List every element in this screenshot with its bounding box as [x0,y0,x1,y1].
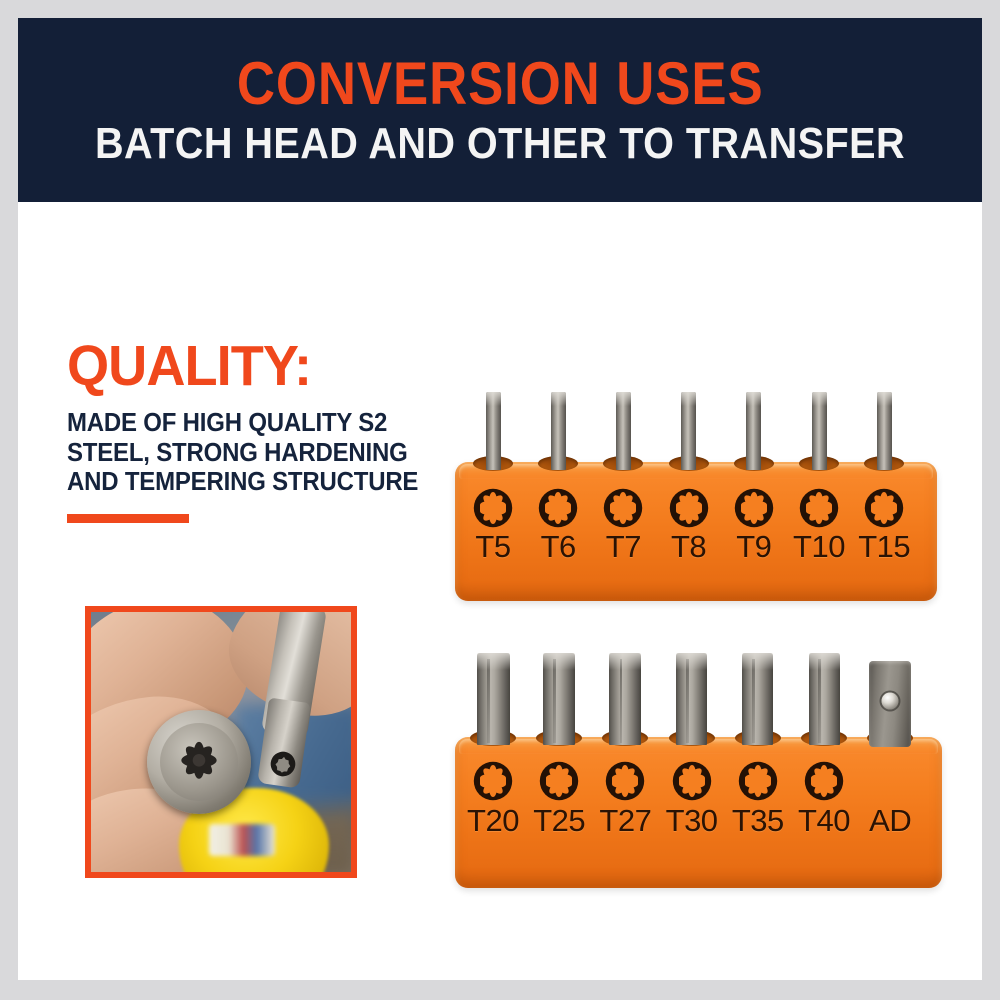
torx-bit-t30[interactable] [676,653,708,745]
torx-bit-t27[interactable] [609,653,641,745]
torx-star-icon [539,761,579,801]
infographic-page: CONVERSION USES BATCH HEAD AND OTHER TO … [18,18,982,980]
bit-size-label: T20 [467,803,519,839]
detent-ball-icon [882,692,899,709]
quality-description: MADE OF HIGH QUALITY S2 STEEL, STRONG HA… [67,409,424,498]
quality-line-3: AND TEMPERING STRUCTURE [67,468,424,498]
torx-bit-t20[interactable] [477,653,510,745]
bit-holder-top: T5 T6 T7 T8 T9 T10 T15 [455,386,937,601]
torx-star-icon [669,488,709,528]
bit-size-label: T9 [736,529,771,565]
torx-bit-t35[interactable] [742,653,773,745]
bit-holder-bottom: T20 T25 T27 T30 T35 T40AD [455,653,942,888]
bit-size-label: T35 [732,803,784,839]
bit-size-label: T7 [606,529,641,565]
torx-bit-t15[interactable] [877,392,892,470]
bit-size-label: T8 [671,529,706,565]
torx-bit-t7[interactable] [616,392,631,470]
quality-line-2: STEEL, STRONG HARDENING [67,439,424,469]
torx-socket-icon [267,748,299,780]
torx-star-icon [738,761,778,801]
photo-inner [91,612,351,872]
torx-bit-t6[interactable] [551,392,566,470]
torx-star-icon [804,761,844,801]
bit-size-label: AD [869,803,911,839]
bit-size-label: T25 [533,803,585,839]
quality-heading: QUALITY: [67,338,428,395]
torx-bit-t40[interactable] [809,653,840,745]
product-photo-inset [85,606,357,878]
bit-size-label: T27 [599,803,651,839]
torx-star-icon [672,761,712,801]
bit-size-label: T6 [541,529,576,565]
bit-size-label: T40 [798,803,850,839]
handle-sticker [209,824,275,856]
torx-bit-t5[interactable] [486,392,501,470]
torx-star-icon [473,761,513,801]
bit-size-label: T30 [666,803,718,839]
accent-underline-bar [67,514,189,523]
torx-bit-t10[interactable] [812,392,827,470]
torx-star-recess-icon [178,741,220,783]
torx-star-icon [864,488,904,528]
torx-bit-t25[interactable] [543,653,576,745]
torx-security-screw [147,710,251,814]
bit-size-label: T15 [858,529,910,565]
torx-star-icon [799,488,839,528]
bit-size-label: T10 [793,529,845,565]
header-banner: CONVERSION USES BATCH HEAD AND OTHER TO … [18,18,982,202]
quality-section: QUALITY: MADE OF HIGH QUALITY S2 STEEL, … [67,338,447,523]
torx-star-icon [734,488,774,528]
bit-size-label: T5 [475,529,510,565]
socket-adapter-bit[interactable] [869,661,911,747]
page-title: CONVERSION USES [237,53,764,114]
torx-star-icon [605,761,645,801]
torx-bit-t8[interactable] [681,392,696,470]
quality-line-1: MADE OF HIGH QUALITY S2 [67,409,424,439]
torx-star-icon [603,488,643,528]
page-subtitle: BATCH HEAD AND OTHER TO TRANSFER [95,121,905,167]
torx-bit-t9[interactable] [746,392,761,470]
torx-star-icon [473,488,513,528]
torx-star-icon [538,488,578,528]
